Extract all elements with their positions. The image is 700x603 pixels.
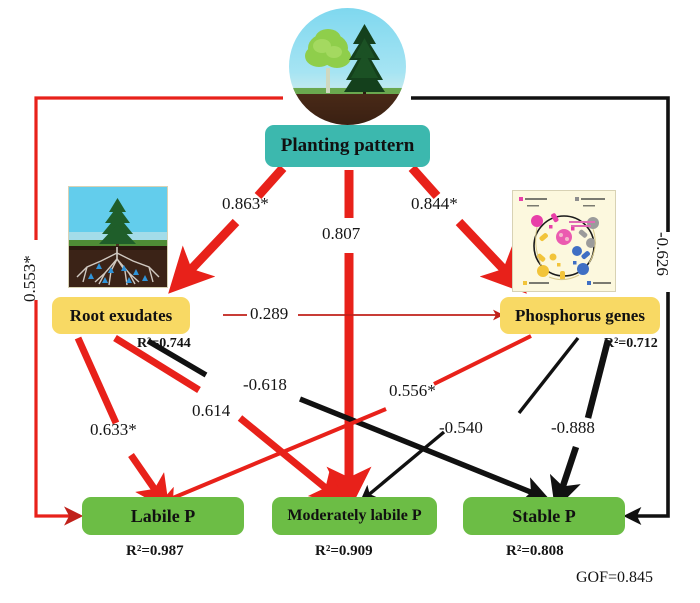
root-system-artwork xyxy=(69,187,167,287)
coefficient-phosphorus-genes-to-labile-p: 0.556* xyxy=(389,381,436,401)
r2-stable-p: R²=0.808 xyxy=(506,543,564,560)
node-stable-p[interactable]: Stable P xyxy=(463,497,625,535)
phosphorus-cell-artwork xyxy=(513,191,615,291)
node-root-exudates[interactable]: Root exudates xyxy=(52,297,190,334)
node-phosphorus-genes-label: Phosphorus genes xyxy=(515,307,645,325)
r2-labile-p: R²=0.987 xyxy=(126,543,184,560)
node-labile-p-label: Labile P xyxy=(131,507,196,526)
node-moderately-labile-p-label: Moderately labile P xyxy=(287,508,421,525)
coefficient-planting-to-moderately-labile-p: 0.807 xyxy=(322,224,360,244)
r2-root-exudates: R²=0.744 xyxy=(137,336,191,352)
r2-phosphorus-genes: R²=0.712 xyxy=(604,336,658,352)
node-root-exudates-label: Root exudates xyxy=(70,307,172,325)
node-phosphorus-genes[interactable]: Phosphorus genes xyxy=(500,297,660,334)
coefficient-phosphorus-genes-to-moderately-labile-p: -0.540 xyxy=(439,418,483,438)
path-planting-to-phosphorus-genes xyxy=(412,168,512,278)
node-moderately-labile-p[interactable]: Moderately labile P xyxy=(272,497,437,535)
coefficient-phosphorus-genes-to-stable-p: -0.888 xyxy=(551,418,595,438)
node-planting-pattern[interactable]: Planting pattern xyxy=(265,125,430,167)
coefficient-planting-to-stable-p: -0.626 xyxy=(652,232,672,276)
sem-diagram-canvas: Planting pattern Root exudates Phosphoru… xyxy=(0,0,700,603)
node-stable-p-label: Stable P xyxy=(512,507,576,526)
node-labile-p[interactable]: Labile P xyxy=(82,497,244,535)
coefficient-root-exudates-to-stable-p: -0.618 xyxy=(243,375,287,395)
coefficient-planting-to-root-exudates: 0.863* xyxy=(222,194,269,214)
gof-label: GOF=0.845 xyxy=(576,569,653,587)
path-planting-to-root-exudates xyxy=(183,168,283,278)
node-planting-pattern-label: Planting pattern xyxy=(281,136,415,156)
r2-moderately-labile-p: R²=0.909 xyxy=(315,543,373,560)
trees-circle-image xyxy=(289,8,406,125)
phosphorus-cell-image xyxy=(512,190,616,292)
trees-artwork xyxy=(289,8,406,125)
coefficient-root-exudates-to-labile-p: 0.633* xyxy=(90,420,137,440)
root-system-image xyxy=(68,186,168,288)
coefficient-root-exudates-to-phosphorus-genes: 0.289 xyxy=(250,304,288,324)
coefficient-planting-to-labile-p: 0.553* xyxy=(20,255,40,302)
coefficient-planting-to-phosphorus-genes: 0.844* xyxy=(411,194,458,214)
coefficient-root-exudates-to-moderately-labile-p: 0.614 xyxy=(192,401,230,421)
